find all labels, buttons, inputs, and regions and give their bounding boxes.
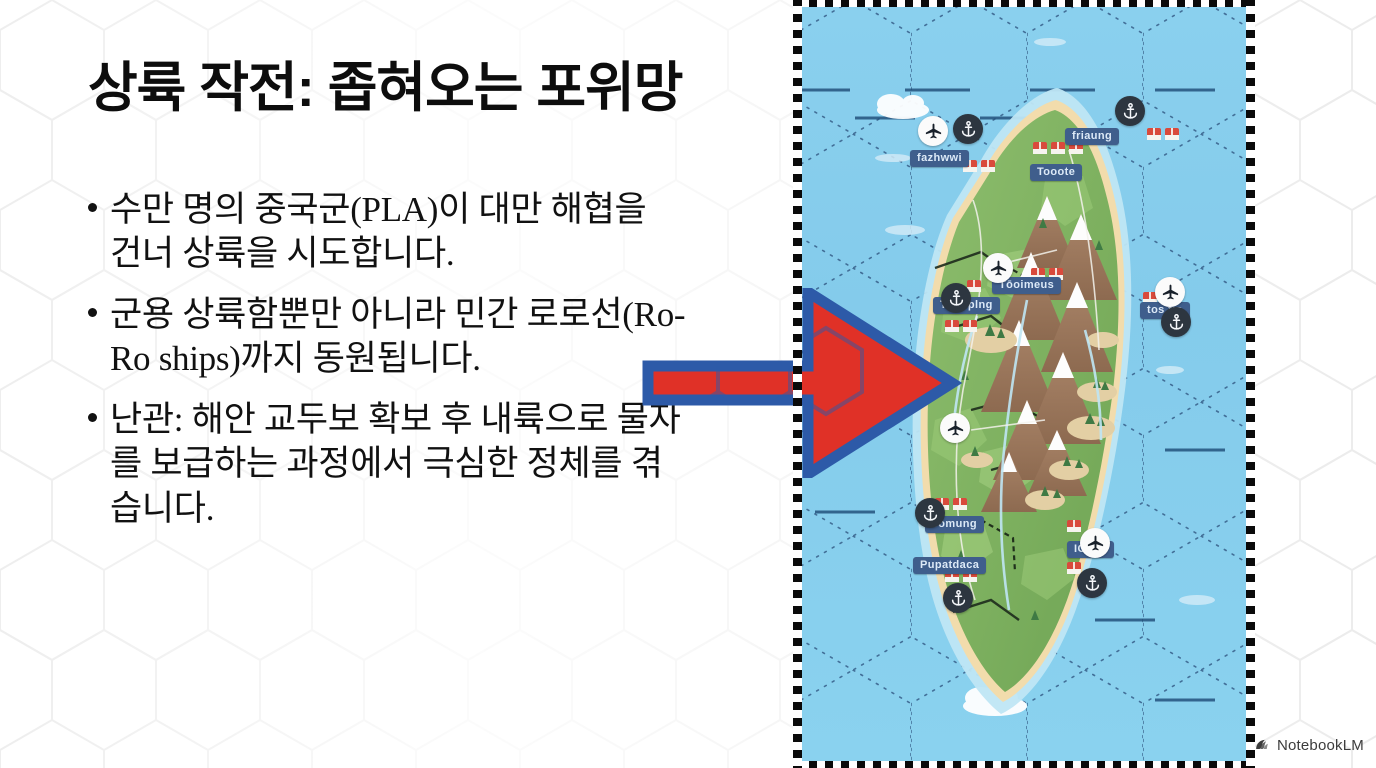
- presentation-slide: 상륙 작전: 좁혀오는 포위망 수만 명의 중국군(PLA)이 대만 해협을 건…: [0, 0, 1376, 768]
- bullet-dot-icon: [88, 413, 97, 422]
- building-icon: [1067, 562, 1081, 574]
- city-label: fazhwwi: [910, 150, 969, 167]
- bullet-dot-icon: [88, 203, 97, 212]
- bullet-dot-icon: [88, 308, 97, 317]
- list-item: 수만 명의 중국군(PLA)이 대만 해협을 건너 상륙을 시도합니다.: [86, 188, 686, 277]
- building-icon: [1033, 142, 1047, 154]
- anchor-icon: [1077, 568, 1107, 598]
- city-label: Pupatdaca: [913, 557, 986, 574]
- airplane-icon: [983, 253, 1013, 283]
- bullet-text: 군용 상륙함뿐만 아니라 민간 로로선(Ro-Ro ships)까지 동원됩니다…: [110, 293, 686, 382]
- building-icon: [1051, 142, 1065, 154]
- building-icon: [953, 498, 967, 510]
- airplane-icon: [1080, 528, 1110, 558]
- building-icon: [1067, 520, 1081, 532]
- airplane-icon: [1155, 277, 1185, 307]
- bullet-text: 수만 명의 중국군(PLA)이 대만 해협을 건너 상륙을 시도합니다.: [110, 188, 686, 277]
- page-title: 상륙 작전: 좁혀오는 포위망: [88, 58, 778, 118]
- bullet-text: 난관: 해안 교두보 확보 후 내륙으로 물자를 보급하는 과정에서 극심한 정…: [110, 398, 686, 531]
- notebooklm-icon: [1254, 737, 1271, 754]
- city-label: Toootе: [1030, 164, 1082, 181]
- airplane-icon: [918, 116, 948, 146]
- anchor-icon: [1115, 96, 1145, 126]
- building-icon: [1147, 128, 1161, 140]
- building-icon: [981, 160, 995, 172]
- anchor-icon: [1161, 307, 1191, 337]
- bullet-list: 수만 명의 중국군(PLA)이 대만 해협을 건너 상륙을 시도합니다. 군용 …: [86, 188, 686, 547]
- anchor-icon: [943, 583, 973, 613]
- city-label: friaung: [1065, 128, 1119, 145]
- invasion-arrow: [630, 288, 970, 478]
- anchor-icon: [915, 498, 945, 528]
- list-item: 난관: 해안 교두보 확보 후 내륙으로 물자를 보급하는 과정에서 극심한 정…: [86, 398, 686, 531]
- watermark-label: NotebookLM: [1277, 737, 1364, 754]
- list-item: 군용 상륙함뿐만 아니라 민간 로로선(Ro-Ro ships)까지 동원됩니다…: [86, 293, 686, 382]
- anchor-icon: [953, 114, 983, 144]
- notebooklm-watermark: NotebookLM: [1254, 737, 1364, 754]
- building-icon: [1165, 128, 1179, 140]
